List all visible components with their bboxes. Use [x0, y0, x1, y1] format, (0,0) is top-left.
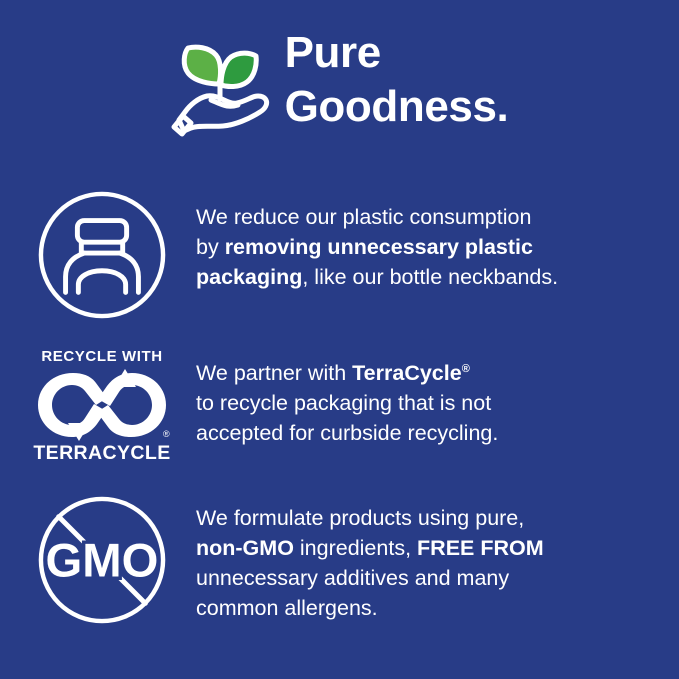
- text-line: We reduce our plastic consumption: [196, 202, 665, 232]
- row-icon-container: [0, 190, 196, 325]
- feature-text-plastic-reduction: We reduce our plastic consumption by rem…: [196, 190, 679, 292]
- registered-mark: ®: [163, 429, 170, 439]
- text-line: We partner with TerraCycle®: [196, 358, 665, 388]
- text-run: ingredients,: [294, 536, 417, 560]
- row-icon-container: RECYCLE WITH ®: [0, 348, 196, 464]
- text-run: ®: [462, 363, 470, 375]
- header: Pure Goodness.: [0, 26, 679, 161]
- gmo-icon-label: GMO: [46, 535, 159, 588]
- mobius-infinity-recycle-icon: ®: [34, 367, 170, 441]
- feature-row-terracycle: RECYCLE WITH ®: [0, 348, 679, 480]
- text-run: to recycle packaging that is not: [196, 391, 491, 415]
- hand-holding-sprout-icon: [171, 32, 275, 142]
- text-line: to recycle packaging that is not: [196, 388, 665, 418]
- terracycle-logo-top-text: RECYCLE WITH: [41, 348, 162, 365]
- row-icon-container: GMO: [0, 495, 196, 630]
- text-line: We formulate products using pure,: [196, 503, 665, 533]
- text-line: accepted for curbside recycling.: [196, 418, 665, 448]
- feature-text-terracycle: We partner with TerraCycle® to recycle p…: [196, 348, 679, 448]
- no-gmo-icon: GMO: [37, 495, 167, 630]
- text-run: common allergens.: [196, 596, 378, 620]
- text-line: common allergens.: [196, 593, 665, 623]
- terracycle-recycle-logo: RECYCLE WITH ®: [32, 348, 172, 464]
- text-run: We partner with: [196, 361, 352, 385]
- text-run: We formulate products using pure,: [196, 506, 524, 530]
- text-run: packaging: [196, 265, 302, 289]
- text-line: unnecessary additives and many: [196, 563, 665, 593]
- text-line: by removing unnecessary plastic: [196, 232, 665, 262]
- text-run: , like our bottle neckbands.: [302, 265, 558, 289]
- pure-goodness-infographic: Pure Goodness. We reduce ou: [0, 0, 679, 679]
- bottle-no-neckband-icon: [37, 190, 167, 325]
- text-run: non-GMO: [196, 536, 294, 560]
- text-run: accepted for curbside recycling.: [196, 421, 498, 445]
- feature-text-non-gmo: We formulate products using pure, non-GM…: [196, 495, 679, 623]
- text-run: by: [196, 235, 225, 259]
- text-run: unnecessary additives and many: [196, 566, 509, 590]
- feature-row-non-gmo: GMO We formulate products using pure, no…: [0, 495, 679, 640]
- page-title: Pure Goodness.: [285, 26, 509, 134]
- text-run: TerraCycle: [352, 361, 462, 385]
- text-line: non-GMO ingredients, FREE FROM: [196, 533, 665, 563]
- text-line: packaging, like our bottle neckbands.: [196, 262, 665, 292]
- feature-row-plastic-reduction: We reduce our plastic consumption by rem…: [0, 190, 679, 335]
- terracycle-logo-bottom-text: TERRACYCLE: [33, 442, 170, 464]
- text-run: We reduce our plastic consumption: [196, 205, 531, 229]
- text-run: FREE FROM: [417, 536, 544, 560]
- text-run: removing unnecessary plastic: [225, 235, 533, 259]
